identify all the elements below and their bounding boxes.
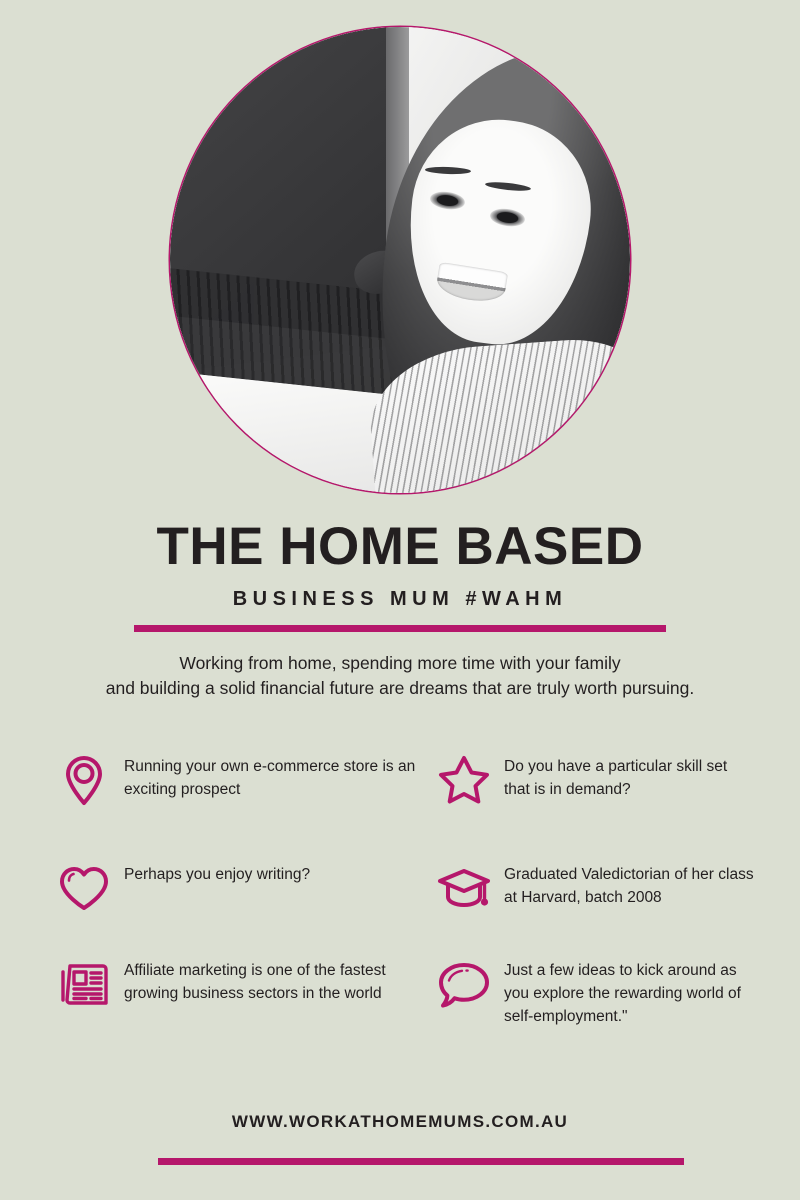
feature-row-3: Affiliate marketing is one of the fastes… <box>56 956 756 1056</box>
feature-item-text: Affiliate marketing is one of the fastes… <box>124 956 436 1005</box>
hero-photo-circle <box>170 27 630 493</box>
feature-item-writing: Perhaps you enjoy writing? <box>56 860 436 956</box>
feature-row-1: Running your own e-commerce store is an … <box>56 752 756 860</box>
graduation-cap-icon <box>436 860 492 916</box>
feature-item-skillset: Do you have a particular skill set that … <box>436 752 756 860</box>
feature-item-ideas: Just a few ideas to kick around as you e… <box>436 956 756 1056</box>
feature-item-text: Perhaps you enjoy writing? <box>124 860 310 886</box>
feature-item-ecommerce: Running your own e-commerce store is an … <box>56 752 436 860</box>
location-pin-icon <box>56 752 112 808</box>
accent-rule-bottom <box>158 1158 684 1165</box>
woman-at-desk-photo <box>170 27 630 493</box>
feature-item-text: Running your own e-commerce store is an … <box>124 752 436 801</box>
infographic-poster: THE HOME BASED BUSINESS MUM #WAHM Workin… <box>0 0 800 1200</box>
feature-item-text: Graduated Valedictorian of her class at … <box>504 860 756 909</box>
feature-item-valedictorian: Graduated Valedictorian of her class at … <box>436 860 756 956</box>
accent-rule-top <box>134 625 666 632</box>
footer-url[interactable]: WWW.WORKATHOMEMUMS.COM.AU <box>0 1112 800 1132</box>
page-title: THE HOME BASED <box>0 516 800 577</box>
speech-bubble-icon <box>436 956 492 1012</box>
heart-icon <box>56 860 112 916</box>
page-subtitle: BUSINESS MUM #WAHM <box>0 588 800 611</box>
feature-item-text: Just a few ideas to kick around as you e… <box>504 956 756 1028</box>
feature-row-2: Perhaps you enjoy writing? Graduated Val… <box>56 860 756 956</box>
lede-line-1: Working from home, spending more time wi… <box>179 653 620 673</box>
star-icon <box>436 752 492 808</box>
feature-item-text: Do you have a particular skill set that … <box>504 752 756 801</box>
newspaper-icon <box>56 956 112 1012</box>
lede-paragraph: Working from home, spending more time wi… <box>60 651 740 701</box>
lede-line-2: and building a solid financial future ar… <box>106 678 695 698</box>
feature-grid: Running your own e-commerce store is an … <box>56 752 756 1056</box>
feature-item-affiliate: Affiliate marketing is one of the fastes… <box>56 956 436 1056</box>
